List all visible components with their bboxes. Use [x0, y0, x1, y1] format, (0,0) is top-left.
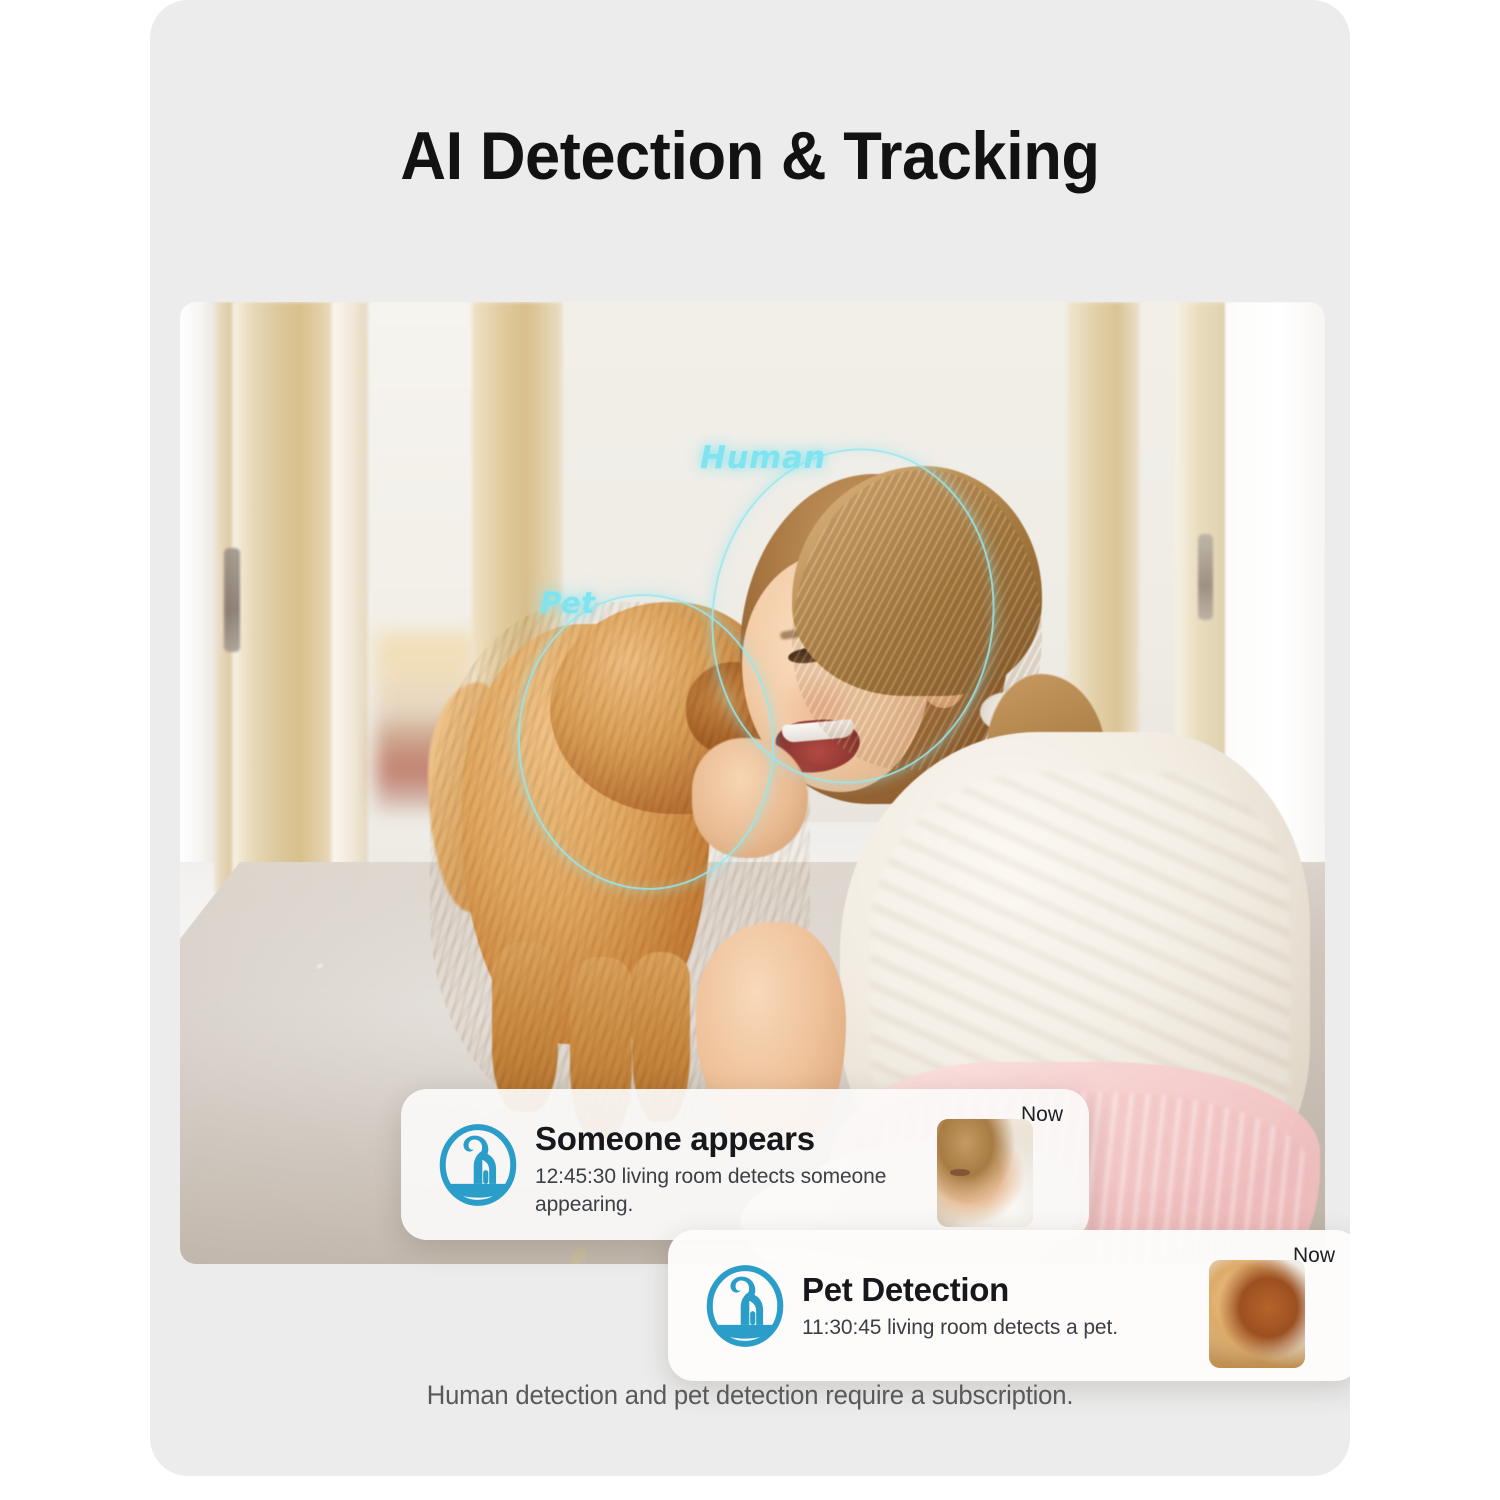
left-door-handle	[224, 548, 240, 652]
right-door-handle	[1198, 534, 1213, 620]
girl-face-thumbnail	[937, 1119, 1033, 1227]
pet-detection-icon	[435, 1122, 521, 1208]
notification-title: Pet Detection	[802, 1270, 1171, 1310]
notification-subtitle: 12:45:30 living room detects someone app…	[535, 1163, 899, 1219]
left-door-frame-3	[332, 302, 370, 942]
page-title: AI Detection & Tracking	[192, 116, 1308, 196]
feature-card: AI Detection & Tracking	[150, 0, 1350, 1476]
subscription-disclaimer: Human detection and pet detection requir…	[180, 1380, 1320, 1411]
left-door-frame-2	[232, 302, 342, 912]
notification-card-someone-appears[interactable]: Someone appears 12:45:30 living room det…	[401, 1089, 1089, 1240]
page-root: AI Detection & Tracking	[0, 0, 1500, 1500]
notification-text-block: Someone appears 12:45:30 living room det…	[535, 1089, 899, 1240]
notification-title: Someone appears	[535, 1119, 899, 1159]
notification-text-block: Pet Detection 11:30:45 living room detec…	[802, 1230, 1171, 1381]
pet-detection-icon	[702, 1263, 788, 1349]
dog-face-thumbnail	[1209, 1260, 1305, 1368]
notification-subtitle: 11:30:45 living room detects a pet.	[802, 1314, 1171, 1342]
pet-detection-label: Pet	[540, 586, 596, 620]
notification-thumbnail-dog[interactable]	[1209, 1260, 1305, 1368]
human-detection-label: Human	[700, 440, 826, 476]
notification-card-pet-detection[interactable]: Pet Detection 11:30:45 living room detec…	[668, 1230, 1350, 1381]
notification-thumbnail-girl[interactable]	[937, 1119, 1033, 1227]
